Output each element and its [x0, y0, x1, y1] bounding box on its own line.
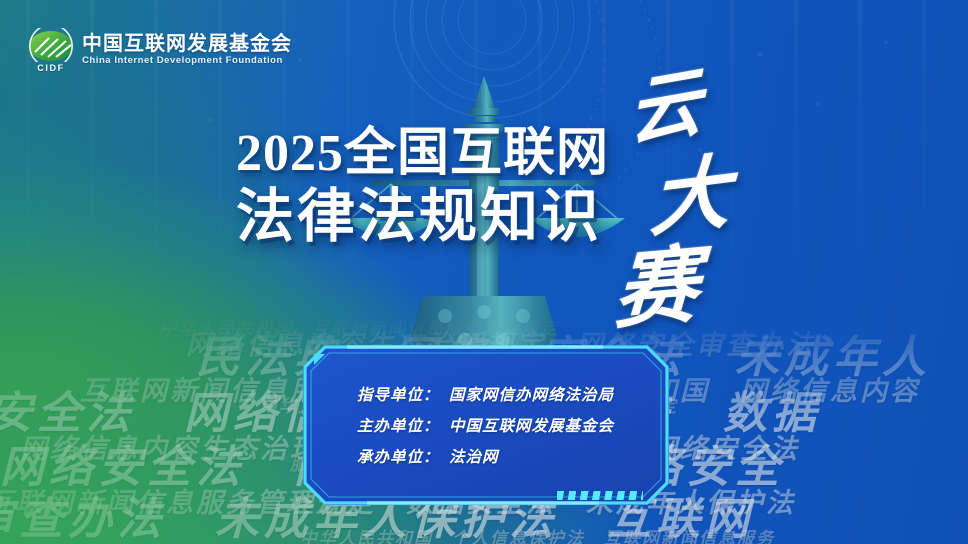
info-label-organizer: 承办单位：: [357, 445, 449, 467]
logo-acronym: CIDF: [28, 63, 74, 73]
organizers-info-panel: 指导单位： 国家网信办网络法治局 主办单位： 中国互联网发展基金会 承办单位： …: [303, 345, 669, 505]
info-row-host: 主办单位： 中国互联网发展基金会: [357, 414, 669, 445]
title-line-2: 法律法规知识: [236, 188, 609, 246]
poster-title: 2025全国互联网 法律法规知识: [236, 128, 609, 246]
logo-name-en: China Internet Development Foundation: [82, 56, 292, 66]
title-line-1: 2025全国互联网: [236, 128, 609, 180]
calligraphy-char-yun: 云: [627, 65, 704, 152]
info-value-guidance: 国家网信办网络法治局: [449, 383, 614, 405]
info-value-organizer: 法治网: [449, 445, 499, 467]
logo-text-block: 中国互联网发展基金会 China Internet Development Fo…: [82, 34, 292, 66]
organization-logo: CIDF 中国互联网发展基金会 China Internet Developme…: [28, 28, 292, 72]
cidf-logo-mark: CIDF: [28, 28, 74, 72]
info-label-host: 主办单位：: [357, 414, 449, 436]
logo-name-cn: 中国互联网发展基金会: [82, 34, 292, 55]
poster-canvas: 中华人民共和国 互联网新闻信息服务管理规定 网络信息内容生态治理规定 网络安全审…: [0, 0, 968, 544]
stripe-accent-decoration: [557, 491, 643, 500]
info-value-host: 中国互联网发展基金会: [449, 414, 614, 436]
info-row-guidance: 指导单位： 国家网信办网络法治局: [357, 383, 669, 414]
organizers-list: 指导单位： 国家网信办网络法治局 主办单位： 中国互联网发展基金会 承办单位： …: [303, 383, 669, 476]
info-row-organizer: 承办单位： 法治网: [357, 445, 669, 476]
calligraphy-char-da: 大: [649, 153, 731, 244]
calligraphy-char-sai: 赛: [612, 244, 700, 336]
corner-accent-triangle: [314, 354, 325, 365]
info-label-guidance: 指导单位：: [357, 383, 449, 405]
